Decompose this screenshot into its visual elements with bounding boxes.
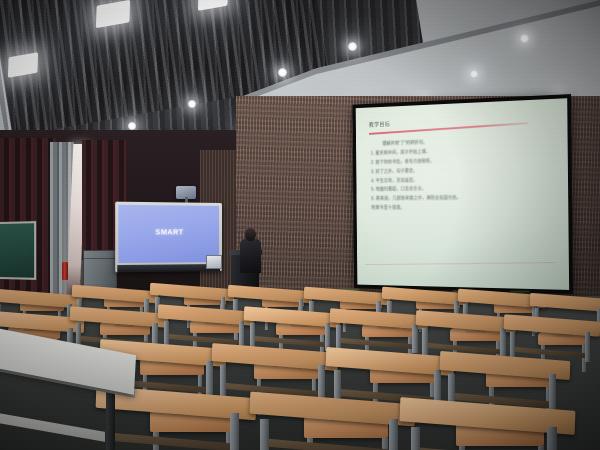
slide-item-list: 1. 夏天到中间，孩子开始上课。2. 放下你的书包，老毛巾放碗柜。3. 好了之外… <box>369 147 557 202</box>
slide-lead-line: 理解并用“了”的转折句。 <box>382 135 556 147</box>
desk-shelf <box>267 439 389 450</box>
smartboard-screen[interactable]: SMART <box>118 205 219 263</box>
desk <box>250 398 415 450</box>
classroom-photo: SMART 教学目标 理解并用“了”的转折句。 1. 夏天到中间，孩子开始上课。… <box>0 0 600 450</box>
downlight-icon <box>278 68 287 77</box>
presenter-head <box>245 228 256 241</box>
desk-leg <box>260 419 269 450</box>
presenter-body <box>240 239 261 273</box>
cabinet-seam <box>84 258 116 259</box>
desk-leg <box>585 332 590 362</box>
slide-item: 6. 表来说，几部放来做之中，满院全是圆光色。 <box>371 195 557 202</box>
downlight-icon <box>188 100 196 108</box>
desk-shelf <box>254 336 325 347</box>
slide-item-tail: 所笑今至十倍落。 <box>371 205 557 211</box>
downlight-icon <box>128 122 136 130</box>
desk-leg <box>389 419 398 450</box>
desk-shelf <box>112 433 230 450</box>
desk <box>244 310 340 352</box>
desk-top <box>530 293 600 312</box>
slide-item: 3. 好了之外，勾子要走。 <box>371 166 557 175</box>
fire-extinguisher <box>62 262 68 280</box>
green-chalkboard <box>0 221 36 280</box>
slide-item: 1. 夏天到中间，孩子开始上课。 <box>371 147 556 157</box>
downlight-icon <box>520 34 529 43</box>
slide-item: 5. 地面扫着起，口舌会生长。 <box>371 186 557 193</box>
smart-logo: SMART <box>155 229 183 236</box>
slide-item: 4. 平生忘有，苏加盖型。 <box>371 176 557 184</box>
desk <box>400 404 575 450</box>
projection-screen-border: 教学目标 理解并用“了”的转折句。 1. 夏天到中间，孩子开始上课。2. 放下你… <box>352 94 573 294</box>
smartboard-pen-tray[interactable] <box>117 264 220 272</box>
desk-leg <box>547 427 557 450</box>
slide-content: 教学目标 理解并用“了”的转折句。 1. 夏天到中间，孩子开始上课。2. 放下你… <box>356 98 569 290</box>
desk <box>96 392 256 450</box>
slide-item: 2. 放下你的书包，老毛巾放碗柜。 <box>371 157 556 167</box>
desk-shelf <box>340 338 413 349</box>
desk-leg <box>230 413 239 450</box>
desk-leg <box>411 427 421 450</box>
downlight-icon <box>470 70 478 78</box>
equipment-cabinet[interactable] <box>83 250 117 290</box>
downlight-icon <box>348 42 357 51</box>
projection-screen: 教学目标 理解并用“了”的转折句。 1. 夏天到中间，孩子开始上课。2. 放下你… <box>352 94 573 294</box>
projection-screen-surface: 教学目标 理解并用“了”的转折句。 1. 夏天到中间，孩子开始上课。2. 放下你… <box>356 98 569 290</box>
side-monitor <box>206 255 222 269</box>
